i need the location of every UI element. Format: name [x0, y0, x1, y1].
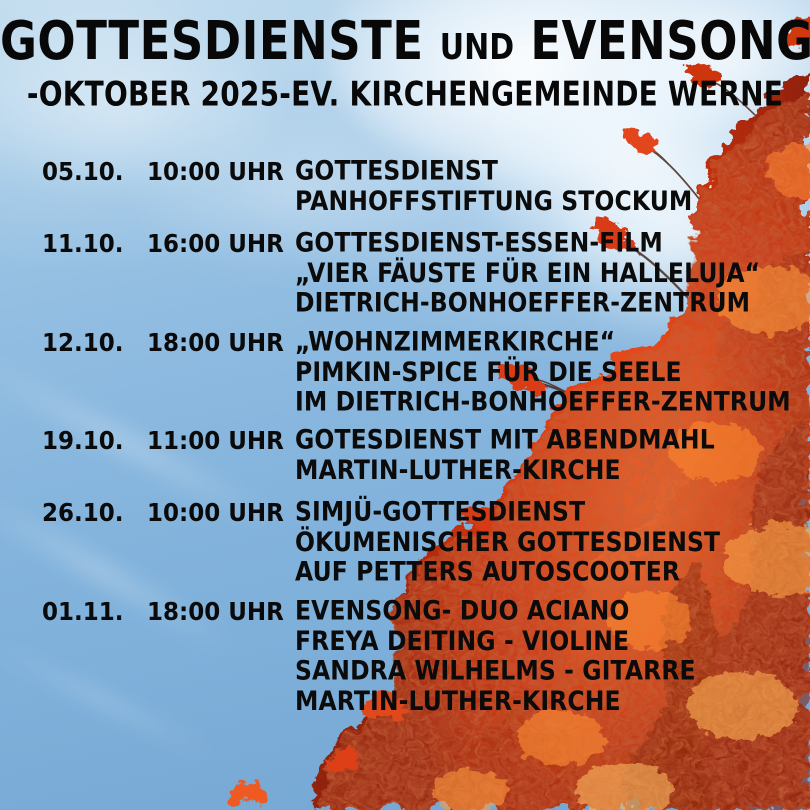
event-description-line: PANHOFFSTIFTUNG STOCKUM	[295, 186, 782, 216]
title-conjunction: UND	[440, 27, 514, 68]
event-time: 10:00 UHR	[147, 156, 295, 189]
poster-content: GOTTESDIENSTE UND EVENSONG -OKTOBER 2025…	[0, 0, 810, 810]
poster-subtitle: -OKTOBER 2025-EV. KIRCHENGEMEINDE WERNE	[0, 78, 810, 112]
title-main: GOTTESDIENSTE	[0, 9, 424, 72]
event-description-line: EVENSONG- DUO ACIANO	[295, 596, 782, 626]
event-date: 05.10.	[42, 156, 147, 189]
event-description-line: GOTESDIENST MIT ABENDMAHL	[295, 425, 782, 455]
event-time: 16:00 UHR	[147, 228, 295, 261]
event-description: SIMJÜ-GOTTESDIENSTÖKUMENISCHER GOTTESDIE…	[295, 497, 782, 587]
event-description: GOTESDIENST MIT ABENDMAHLMARTIN-LUTHER-K…	[295, 425, 782, 485]
event-description-line: IM DIETRICH-BONHOEFFER-ZENTRUM	[295, 386, 791, 416]
event-description-line: AUF PETTERS AUTOSCOOTER	[295, 557, 782, 587]
event-schedule-list: 05.10.10:00 UHRGOTTESDIENSTPANHOFFSTIFTU…	[42, 156, 782, 721]
event-time: 11:00 UHR	[147, 425, 295, 458]
event-description: „WOHNZIMMERKIRCHE“PIMKIN-SPICE FÜR DIE S…	[295, 327, 791, 417]
event-description-line: MARTIN-LUTHER-KIRCHE	[295, 455, 782, 485]
event-time: 18:00 UHR	[147, 596, 295, 629]
event-time: 18:00 UHR	[147, 327, 295, 360]
event-date: 26.10.	[42, 497, 147, 530]
event-date: 12.10.	[42, 327, 147, 360]
event-row: 05.10.10:00 UHRGOTTESDIENSTPANHOFFSTIFTU…	[42, 156, 782, 209]
title-second: EVENSONG	[530, 9, 810, 72]
event-description-line: PIMKIN-SPICE FÜR DIE SEELE	[295, 356, 791, 386]
event-date: 11.10.	[42, 228, 147, 261]
event-row: 19.10.11:00 UHRGOTESDIENST MIT ABENDMAHL…	[42, 425, 782, 478]
event-description-line: FREYA DEITING - VIOLINE	[295, 625, 782, 655]
event-row: 11.10.16:00 UHRGOTTESDIENST-ESSEN-FILM„V…	[42, 228, 782, 308]
event-row: 01.11.18:00 UHREVENSONG- DUO ACIANOFREYA…	[42, 596, 782, 702]
event-row: 12.10.18:00 UHR„WOHNZIMMERKIRCHE“PIMKIN-…	[42, 327, 782, 407]
event-description-line: SIMJÜ-GOTTESDIENST	[295, 497, 782, 527]
event-description-line: SANDRA WILHELMS - GITARRE	[295, 655, 782, 685]
event-date: 01.11.	[42, 596, 147, 629]
event-time: 10:00 UHR	[147, 497, 295, 530]
event-description-line: „VIER FÄUSTE FÜR EIN HALLELUJA“	[295, 258, 782, 288]
event-date: 19.10.	[42, 425, 147, 458]
event-description-line: „WOHNZIMMERKIRCHE“	[295, 327, 791, 357]
event-description-line: MARTIN-LUTHER-KIRCHE	[295, 685, 782, 715]
event-description-line: ÖKUMENISCHER GOTTESDIENST	[295, 527, 782, 557]
event-poster: GOTTESDIENSTE UND EVENSONG -OKTOBER 2025…	[0, 0, 810, 810]
event-description: GOTTESDIENST-ESSEN-FILM„VIER FÄUSTE FÜR …	[295, 228, 782, 318]
poster-title: GOTTESDIENSTE UND EVENSONG	[0, 14, 810, 67]
event-description: GOTTESDIENSTPANHOFFSTIFTUNG STOCKUM	[295, 156, 782, 216]
event-row: 26.10.10:00 UHRSIMJÜ-GOTTESDIENSTÖKUMENI…	[42, 497, 782, 577]
event-description-line: GOTTESDIENST	[295, 156, 782, 186]
event-description-line: GOTTESDIENST-ESSEN-FILM	[295, 228, 782, 258]
event-description: EVENSONG- DUO ACIANOFREYA DEITING - VIOL…	[295, 596, 782, 716]
event-description-line: DIETRICH-BONHOEFFER-ZENTRUM	[295, 288, 782, 318]
